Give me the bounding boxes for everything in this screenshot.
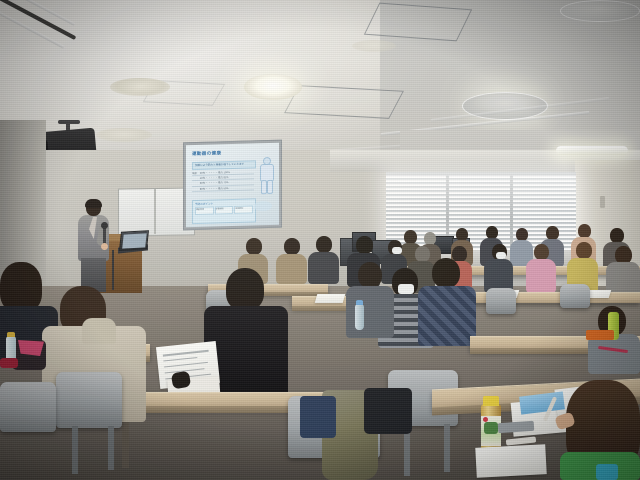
projected-slide: 運動器の健康 加齢により筋力と骨量が低下していきます 年齢 20代 ・・・・・ …: [186, 143, 279, 228]
chair: [0, 382, 56, 432]
presenter-fringe: [85, 199, 102, 208]
attendee-head: [356, 236, 373, 254]
water-bottle: [355, 304, 364, 330]
ceiling-light-dim: [110, 78, 170, 96]
ceiling-light: [244, 74, 302, 100]
figure-leg: [267, 180, 273, 194]
attendee-head: [432, 258, 460, 288]
attendee-head: [226, 268, 264, 310]
face-mask: [496, 252, 506, 259]
attendee-head: [316, 236, 332, 253]
photo-scene: 運動器の健康 加齢により筋力と骨量が低下していきます 年齢 20代 ・・・・・ …: [0, 0, 640, 480]
chair-leg: [108, 426, 114, 470]
slide-subtitle: 加齢により筋力と骨量が低下していきます: [193, 161, 255, 169]
face-mask: [398, 284, 414, 294]
attendee-head: [546, 226, 559, 240]
slide-logo-mark: [254, 201, 272, 212]
whiteboard-divider: [154, 189, 156, 234]
laptop-screen: [122, 233, 146, 248]
handout-line: [164, 362, 208, 368]
ceiling-light-dim: [96, 128, 152, 142]
bag-on-chair: [300, 396, 336, 438]
attendee-body: [308, 252, 339, 284]
slide-cell: 運動習慣: [195, 207, 214, 216]
label-graphic: [484, 422, 498, 434]
attendee-body: [588, 334, 640, 374]
desk-item-red: [0, 358, 18, 368]
bag-dark: [364, 388, 412, 434]
ceiling-access-panel: [284, 85, 404, 119]
attendee-head: [534, 244, 549, 260]
slide-summary-box: 予防のポイント 運動習慣 栄養摂取 定期検診: [192, 198, 256, 224]
attendee-head: [576, 242, 592, 259]
face-mask: [392, 247, 402, 254]
ceiling-vent: [560, 0, 640, 22]
handout-title-line: [163, 350, 209, 357]
presenter-hand: [101, 243, 108, 250]
bottle-cap: [483, 396, 499, 406]
handout-line: [163, 357, 197, 362]
slide-rows: 年齢 20代 ・・・・・ 筋力 100％ 40代 ・・・・・ 筋力 85％ 60…: [192, 169, 254, 191]
attendee-head: [246, 238, 262, 255]
projection-screen: 運動器の健康 加齢により筋力と骨量が低下していきます 年齢 20代 ・・・・・ …: [183, 140, 282, 231]
chair: [56, 372, 122, 428]
attendee-body-plaid: [418, 286, 476, 346]
bottle-cap: [7, 332, 15, 337]
wall-strip-light: [556, 146, 628, 155]
door-handle[interactable]: [600, 196, 605, 208]
presenter: [74, 200, 114, 295]
chair: [486, 288, 516, 314]
orange-folder: [586, 330, 614, 340]
laptop[interactable]: [119, 230, 149, 250]
slide-title: 運動器の健康: [192, 150, 221, 157]
attendee-head: [404, 230, 417, 244]
mic-stand: [112, 250, 114, 290]
attendee-head: [610, 228, 624, 243]
ceiling-access-panel: [364, 3, 472, 42]
speaker-bracket: [58, 120, 80, 124]
attendee-body: [526, 259, 556, 293]
label-dot: [483, 417, 488, 422]
slide-cell: 栄養摂取: [215, 206, 234, 215]
attendee-head: [284, 238, 300, 255]
attendee-body: [346, 286, 394, 338]
handout: [315, 294, 346, 303]
attendee-head: [578, 224, 591, 238]
coat-hood: [82, 318, 116, 344]
ceiling-light-dim: [352, 40, 396, 52]
pink-scarf: [18, 340, 44, 356]
slide-cell-row: 運動習慣 栄養摂取 定期検診: [193, 205, 255, 215]
chair: [560, 284, 590, 308]
attendee-head: [358, 262, 382, 288]
slide-cell: 定期検診: [234, 205, 253, 214]
handout: [475, 444, 546, 478]
attendee-head: [415, 246, 430, 262]
slide-row: 80代 ・・・・・ 筋力 50％: [192, 185, 254, 192]
attendee-body: [276, 254, 307, 284]
blue-item: [596, 464, 618, 480]
chair-leg: [444, 424, 450, 472]
bottle-cap: [356, 300, 363, 305]
slide-body-figure-icon: [256, 157, 276, 196]
attendee-head: [0, 262, 42, 312]
microphone-head: [101, 222, 108, 229]
chair-leg: [72, 426, 78, 474]
